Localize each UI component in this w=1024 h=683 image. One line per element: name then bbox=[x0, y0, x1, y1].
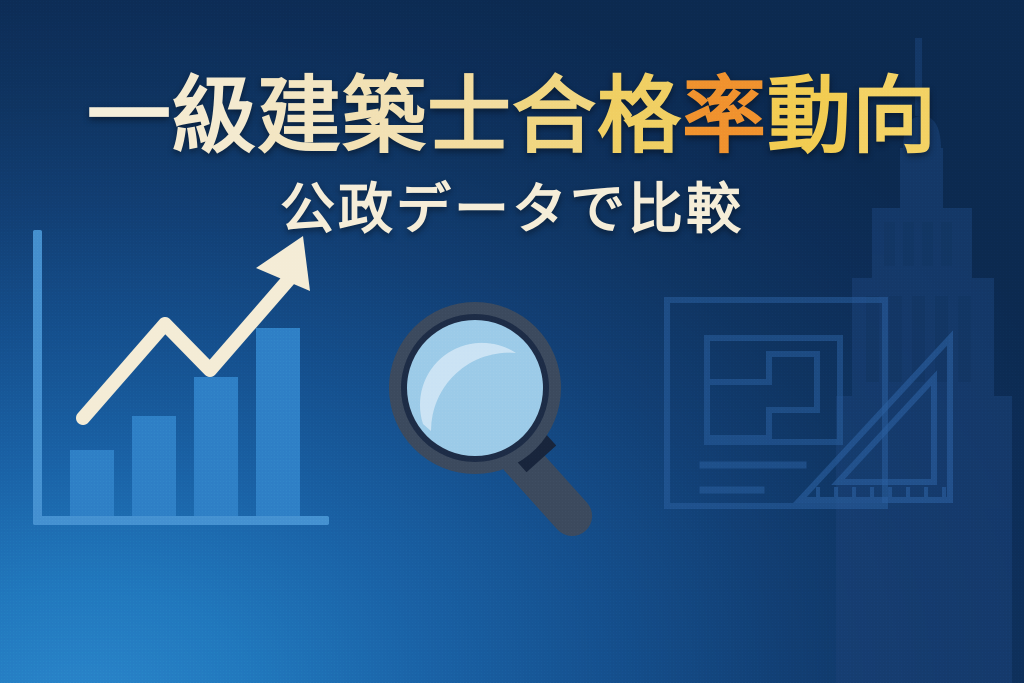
magnifying-glass-icon bbox=[376, 296, 626, 540]
hero-banner: 一級建築士合格率動向 公政データで比較 bbox=[0, 0, 1024, 683]
bar-1 bbox=[70, 450, 114, 516]
bar-2 bbox=[132, 416, 176, 516]
bar-3 bbox=[194, 377, 238, 516]
bar-4 bbox=[256, 328, 300, 516]
chart-bars bbox=[70, 328, 300, 516]
bar-chart-illustration bbox=[18, 222, 358, 542]
